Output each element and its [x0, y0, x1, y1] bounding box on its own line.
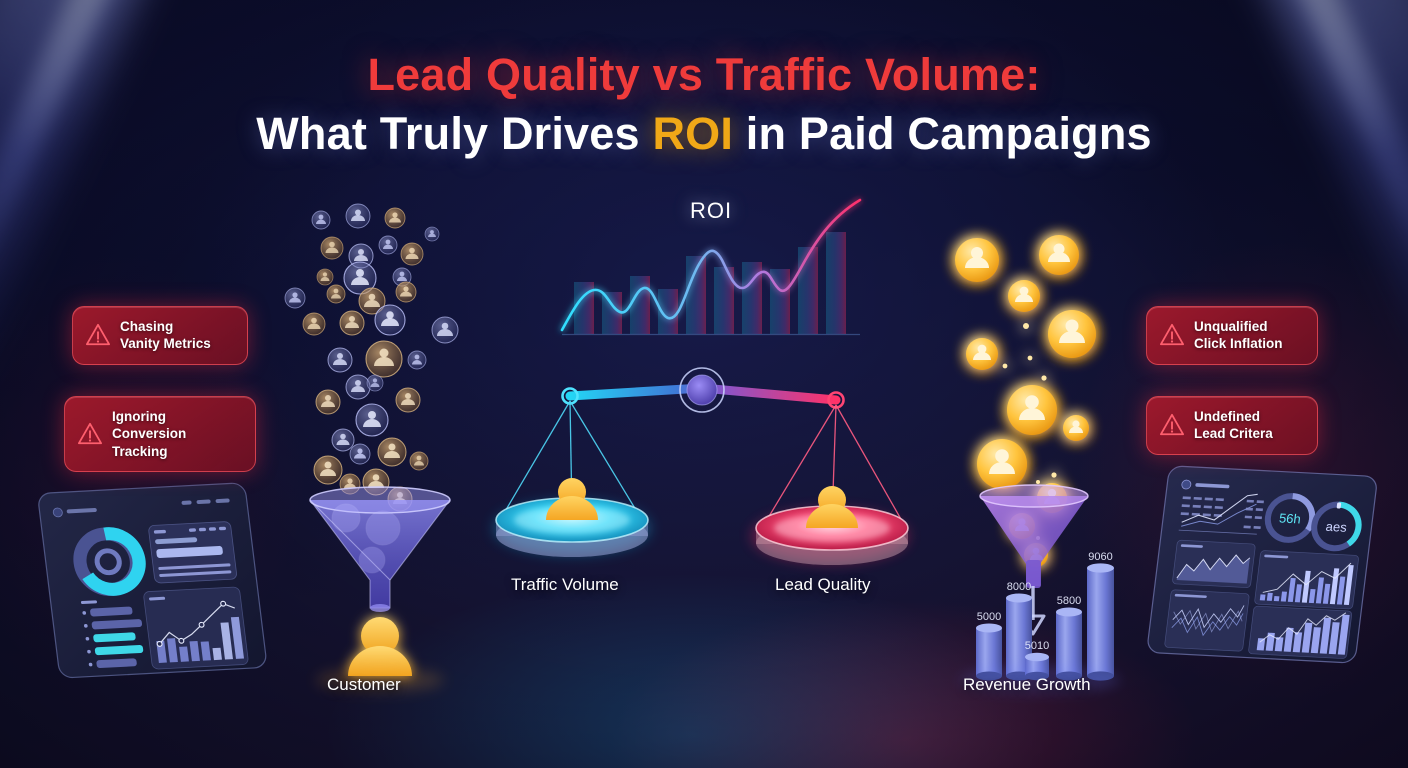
warning-triangle-icon [85, 322, 111, 348]
user-token-icon [314, 456, 342, 484]
roi-chart-label: ROI [556, 198, 866, 224]
area-chart [1172, 540, 1255, 588]
user-token-icon [432, 317, 458, 343]
spark-icon [1003, 364, 1008, 369]
user-token-icon [410, 452, 428, 470]
glowing-user-coin-icon [1063, 415, 1089, 441]
donut-gauge-value: aes [1325, 519, 1348, 535]
user-token-icon [332, 429, 354, 451]
user-token-icon [327, 285, 345, 303]
title-pre-text: What Truly Drives [256, 108, 652, 159]
user-token-icon [328, 348, 352, 372]
balance-scale [470, 368, 940, 608]
user-token-icon [346, 375, 370, 399]
user-token-icon [316, 390, 340, 414]
infographic-canvas: Lead Quality vs Traffic Volume: What Tru… [0, 0, 1408, 768]
user-token-icon [303, 313, 325, 335]
warning-triangle-icon [77, 421, 103, 447]
user-token-icon [396, 388, 420, 412]
warning-triangle-icon [1159, 412, 1185, 438]
user-token-icon [346, 204, 370, 228]
page-title: Lead Quality vs Traffic Volume: What Tru… [0, 48, 1408, 160]
funnel-shape [980, 485, 1088, 588]
user-token-icon [366, 341, 402, 377]
spark-icon [1023, 323, 1029, 329]
user-token-icon [408, 351, 426, 369]
user-token-icon [312, 211, 330, 229]
stat-panel [148, 521, 237, 583]
bar-chart [1248, 606, 1352, 659]
user-token-icon [321, 237, 343, 259]
warning-badge-label: Ignoring Conversion Tracking [112, 408, 186, 460]
customer-person-icon [348, 617, 412, 676]
balance-scale-svg [470, 368, 940, 608]
title-post-text: in Paid Campaigns [733, 108, 1152, 159]
line-bar-combo-chart [143, 587, 249, 669]
user-token-icon [285, 288, 305, 308]
warning-badge-ignoring-conversion-tracking[interactable]: Ignoring Conversion Tracking [64, 396, 256, 472]
glowing-user-coin-icon [955, 238, 999, 282]
spark-icon [1051, 472, 1056, 477]
spark-icon [1028, 356, 1033, 361]
revenue-growth-funnel: 5000 8000 5010 5800 9060 [930, 230, 1140, 690]
user-token-icon [356, 404, 388, 436]
glowing-user-coin-icon [1008, 280, 1040, 312]
title-highlight-roi: ROI [652, 108, 733, 159]
scale-pivot [680, 368, 724, 412]
analytics-tablet-left[interactable] [44, 474, 259, 674]
customer-acquisition-funnel [280, 188, 480, 688]
user-token-icon [385, 208, 405, 228]
warning-badge-undefined-lead-critera[interactable]: Undefined Lead Critera [1146, 396, 1318, 455]
revenue-bar-label: 5010 [1025, 640, 1049, 652]
glowing-user-coin-icon [1007, 385, 1057, 435]
revenue-funnel-caption: Revenue Growth [963, 675, 1091, 695]
revenue-bar-label: 9060 [1088, 551, 1112, 563]
customer-funnel-caption: Customer [327, 675, 401, 695]
user-token-cloud [285, 204, 458, 511]
title-line-secondary: What Truly Drives ROI in Paid Campaigns [0, 107, 1408, 160]
bar-chart [1254, 550, 1359, 609]
left-dashboard-svg [44, 474, 259, 674]
roi-growth-chart: ROI [556, 192, 866, 350]
user-token-icon [367, 375, 383, 391]
glowing-user-coin-icon [966, 338, 998, 370]
spark-icon [1041, 375, 1046, 380]
scatter-line-chart [1164, 590, 1249, 652]
right-funnel-svg: 5000 8000 5010 5800 9060 [930, 230, 1140, 690]
donut-gauge-value: 56h [1278, 510, 1302, 526]
spark-icon [1036, 480, 1040, 484]
glowing-user-coin-icon [1048, 310, 1096, 358]
left-funnel-svg [280, 188, 480, 688]
user-token-icon [317, 269, 333, 285]
user-token-icon [375, 305, 405, 335]
user-token-icon [379, 236, 397, 254]
user-token-icon [350, 444, 370, 464]
analytics-tablet-right[interactable]: 56h aes [1152, 472, 1370, 676]
scale-label-lead-quality: Lead Quality [775, 575, 870, 595]
warning-badge-label: Unqualified Click Inflation [1194, 318, 1283, 353]
revenue-bar-label: 5000 [977, 611, 1001, 623]
roi-chart-bars [574, 232, 846, 334]
glowing-user-coin-icon [1039, 235, 1079, 275]
user-token-icon [401, 243, 423, 265]
revenue-bar-label: 5800 [1057, 595, 1081, 607]
right-dashboard-svg: 56h aes [1152, 472, 1370, 676]
glowing-user-coin-icon [977, 439, 1027, 489]
user-token-icon [378, 438, 406, 466]
scale-label-traffic-volume: Traffic Volume [511, 575, 619, 595]
warning-badge-chasing-vanity-metrics[interactable]: Chasing Vanity Metrics [72, 306, 248, 365]
warning-badge-label: Chasing Vanity Metrics [120, 318, 211, 353]
revenue-bar-label: 8000 [1007, 581, 1031, 593]
user-token-icon [340, 311, 364, 335]
warning-badge-label: Undefined Lead Critera [1194, 408, 1273, 443]
user-token-icon [396, 282, 416, 302]
warning-badge-unqualified-click-inflation[interactable]: Unqualified Click Inflation [1146, 306, 1318, 365]
revenue-bar [1087, 563, 1114, 680]
warning-triangle-icon [1159, 322, 1185, 348]
user-token-icon [425, 227, 439, 241]
title-line-primary: Lead Quality vs Traffic Volume: [0, 48, 1408, 101]
